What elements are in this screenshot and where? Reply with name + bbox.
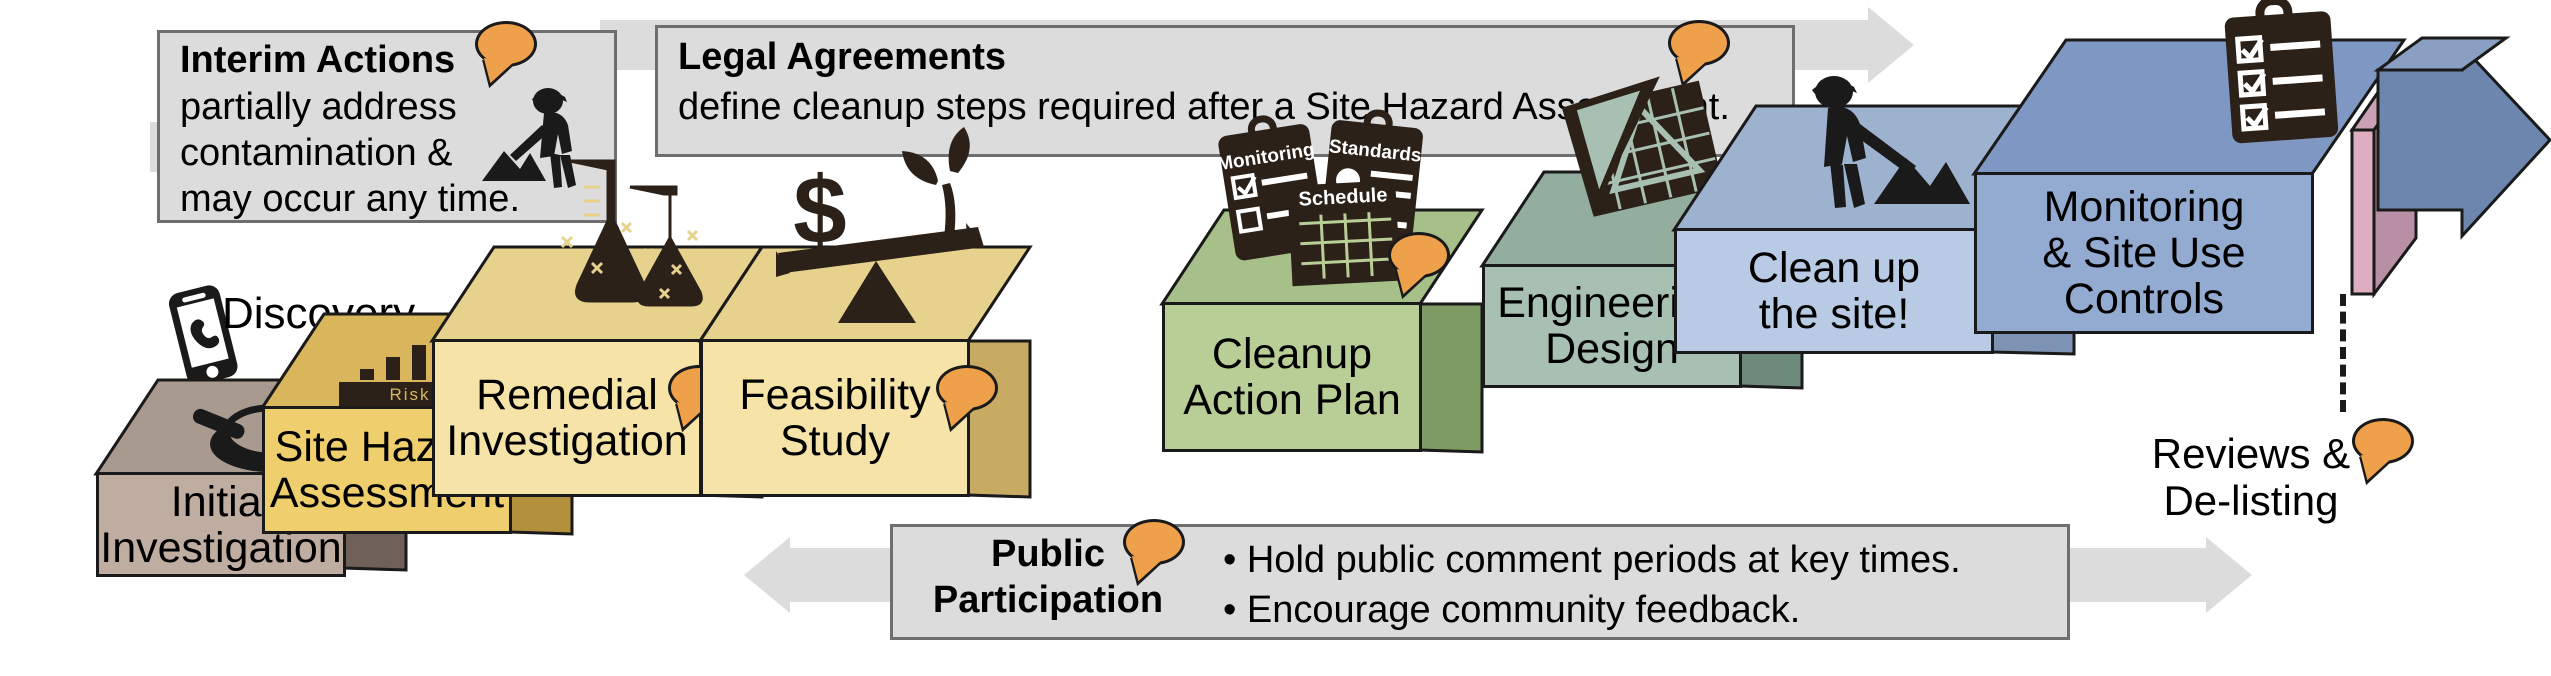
reviews-delisting-line-2: De-listing (2106, 477, 2396, 524)
interim-actions-line-1: partially address (180, 86, 457, 129)
public-participation-bullet-1: • Hold public comment periods at key tim… (1223, 535, 1961, 586)
step-5-label-line2: Action Plan (1177, 377, 1407, 423)
interim-actions-line-2: contamination & (180, 132, 453, 175)
step-5-front-face[interactable]: Cleanup Action Plan (1162, 302, 1422, 452)
public-participation-arrow-head-right (2206, 537, 2252, 613)
interim-actions-title: Interim Actions (180, 39, 455, 82)
speech-bubble-icon (936, 365, 998, 411)
beakers-flasks-icon (522, 153, 712, 343)
final-blue-arrow-wedge (2370, 40, 2551, 310)
step-3-front-face[interactable]: Remedial Investigation (432, 339, 702, 497)
public-participation-callout: Public Participation • Hold public comme… (890, 524, 2070, 640)
step-8-label-line2: & Site Use (2036, 230, 2251, 276)
speech-bubble-icon (1123, 519, 1185, 565)
step-5-label-line1: Cleanup (1177, 331, 1407, 377)
dashed-line (2340, 294, 2346, 412)
speech-bubble-icon (475, 21, 537, 67)
step-4-front-face[interactable]: Feasibility Study (700, 339, 970, 497)
step-4-label-line2: Study (733, 418, 936, 464)
speech-bubble-icon (2352, 418, 2414, 464)
step-8-front-face[interactable]: Monitoring & Site Use Controls (1974, 172, 2314, 334)
speech-bubble-icon (1388, 232, 1450, 278)
legal-agreements-title: Legal Agreements (678, 36, 1006, 79)
step-8-label-line3: Controls (2036, 276, 2251, 322)
step-8-label-line1: Monitoring (2036, 184, 2251, 230)
public-participation-arrow-head-left (744, 537, 790, 613)
step-3-label-line2: Investigation (440, 418, 693, 464)
risk-icon-label: Risk (389, 385, 430, 404)
step-7-front-face[interactable]: Clean up the site! (1674, 228, 1994, 354)
scale-dollar-plant-icon: $ (768, 125, 998, 335)
public-participation-bullet-2: • Encourage community feedback. (1223, 585, 1800, 636)
step-3-label-line1: Remedial (440, 372, 693, 418)
speech-bubble-icon (1668, 20, 1730, 66)
schedule-icon-label: Schedule (1298, 184, 1388, 211)
worker-shoveling-icon (1772, 70, 1972, 232)
step-7-label-line2: the site! (1742, 291, 1926, 337)
interim-actions-line-3: may occur any time. (180, 178, 520, 221)
step-7-label-line1: Clean up (1742, 245, 1926, 291)
step-4-label-line1: Feasibility (733, 372, 936, 418)
